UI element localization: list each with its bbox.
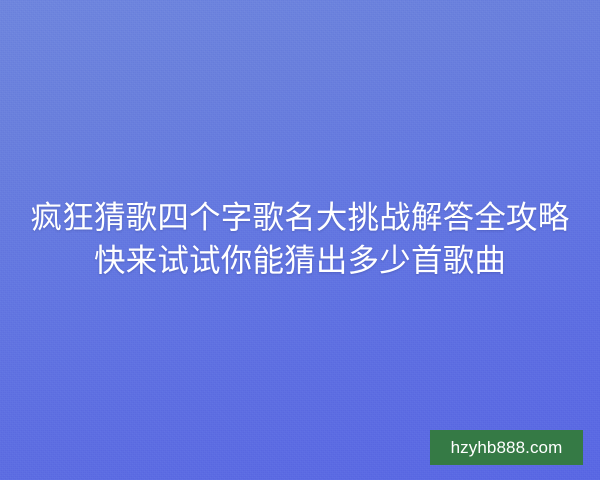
page-title: 疯狂猜歌四个字歌名大挑战解答全攻略快来试试你能猜出多少首歌曲 [26, 196, 574, 282]
watermark-label: hzyhb888.com [451, 439, 563, 456]
cover-image-canvas: 疯狂猜歌四个字歌名大挑战解答全攻略快来试试你能猜出多少首歌曲 hzyhb888.… [0, 0, 600, 480]
watermark-badge: hzyhb888.com [430, 430, 583, 465]
